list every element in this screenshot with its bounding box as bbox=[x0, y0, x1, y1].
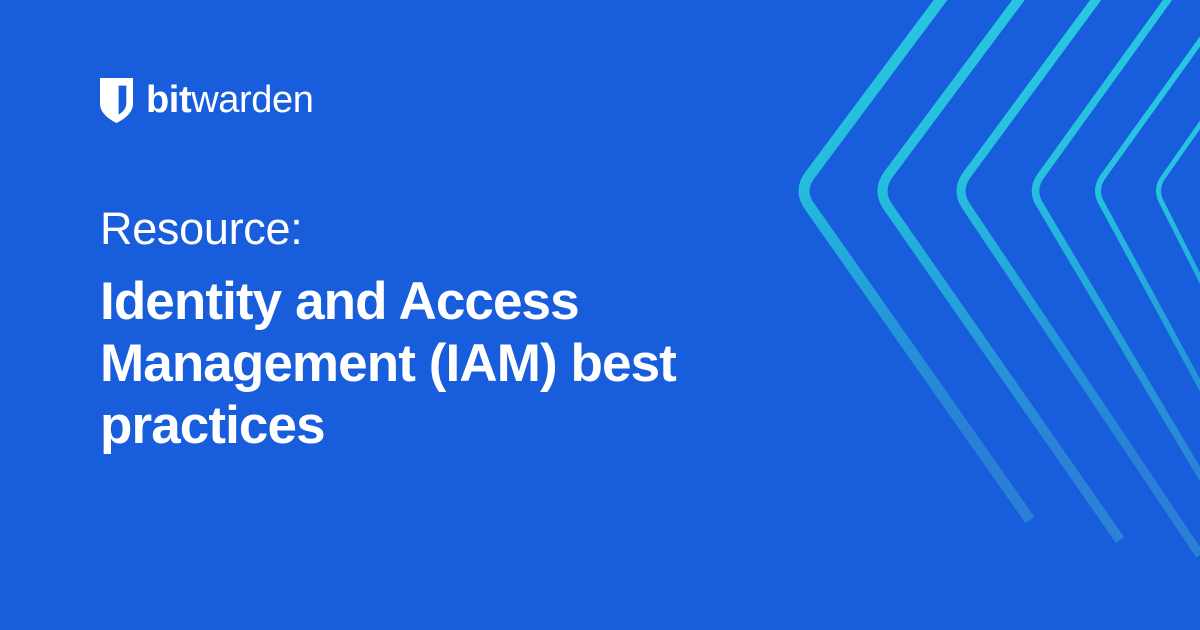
wordmark-light-part: warden bbox=[191, 81, 313, 119]
eyebrow-label: Resource: bbox=[100, 202, 800, 255]
nested-chevron-pattern bbox=[780, 0, 1200, 630]
page-title: Identity and Access Management (IAM) bes… bbox=[100, 271, 780, 457]
social-share-card: bitwarden Resource: Identity and Access … bbox=[0, 0, 1200, 630]
wordmark-bold-part: bit bbox=[146, 81, 191, 119]
bitwarden-logo: bitwarden bbox=[100, 72, 313, 128]
bitwarden-wordmark: bitwarden bbox=[146, 81, 313, 119]
bitwarden-shield-icon bbox=[100, 78, 133, 123]
card-content: Resource: Identity and Access Management… bbox=[100, 202, 800, 457]
